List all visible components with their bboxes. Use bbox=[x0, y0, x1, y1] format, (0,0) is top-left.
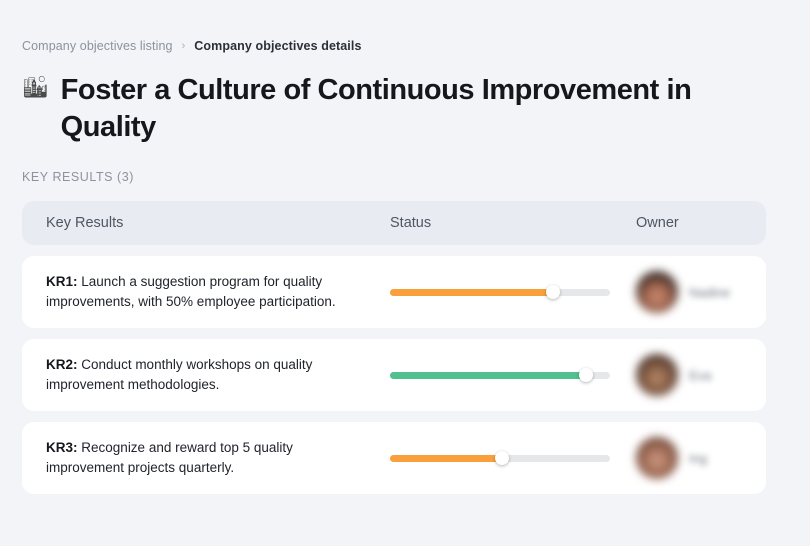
key-result-cell: KR2: Conduct monthly workshops on qualit… bbox=[22, 355, 390, 396]
page-title: Foster a Culture of Continuous Improveme… bbox=[61, 72, 711, 145]
avatar bbox=[636, 354, 678, 396]
table-header-row: Key Results Status Owner bbox=[22, 201, 766, 245]
owner-cell: Nadine bbox=[636, 271, 766, 313]
breadcrumb: Company objectives listing › Company obj… bbox=[22, 0, 788, 53]
key-result-text: KR2: Conduct monthly workshops on qualit… bbox=[46, 355, 390, 396]
slider-thumb[interactable] bbox=[579, 368, 593, 382]
key-result-text: KR1: Launch a suggestion program for qua… bbox=[46, 272, 390, 313]
owner-cell: Ing bbox=[636, 437, 766, 479]
page-title-row: 🏙 Foster a Culture of Continuous Improve… bbox=[22, 72, 788, 145]
owner-name: Ing bbox=[689, 451, 707, 466]
key-result-text: KR3: Recognize and reward top 5 quality … bbox=[46, 438, 390, 479]
table-row[interactable]: KR2: Conduct monthly workshops on qualit… bbox=[22, 339, 766, 411]
key-result-description: Launch a suggestion program for quality … bbox=[46, 274, 336, 310]
key-result-label: KR2: bbox=[46, 357, 78, 372]
key-result-label: KR1: bbox=[46, 274, 78, 289]
objective-details-page: Company objectives listing › Company obj… bbox=[0, 0, 810, 546]
progress-slider[interactable] bbox=[390, 367, 610, 383]
slider-fill bbox=[390, 289, 553, 296]
table-row[interactable]: KR3: Recognize and reward top 5 quality … bbox=[22, 422, 766, 494]
key-result-cell: KR3: Recognize and reward top 5 quality … bbox=[22, 438, 390, 479]
owner[interactable]: Ing bbox=[636, 437, 766, 479]
owner-cell: Eva bbox=[636, 354, 766, 396]
status-cell bbox=[390, 367, 636, 383]
table-row[interactable]: KR1: Launch a suggestion program for qua… bbox=[22, 256, 766, 328]
key-result-description: Recognize and reward top 5 quality impro… bbox=[46, 440, 293, 476]
column-header-owner: Owner bbox=[636, 215, 766, 231]
avatar bbox=[636, 271, 678, 313]
owner-name: Nadine bbox=[689, 285, 730, 300]
slider-thumb[interactable] bbox=[546, 285, 560, 299]
column-header-status: Status bbox=[390, 215, 636, 231]
owner[interactable]: Eva bbox=[636, 354, 766, 396]
breadcrumb-current: Company objectives details bbox=[194, 39, 361, 53]
key-result-cell: KR1: Launch a suggestion program for qua… bbox=[22, 272, 390, 313]
slider-fill bbox=[390, 455, 502, 462]
key-results-section-label: KEY RESULTS (3) bbox=[22, 170, 788, 184]
owner[interactable]: Nadine bbox=[636, 271, 766, 313]
progress-slider[interactable] bbox=[390, 284, 610, 300]
city-buildings-icon: 🏙 bbox=[22, 72, 49, 100]
status-cell bbox=[390, 450, 636, 466]
slider-thumb[interactable] bbox=[495, 451, 509, 465]
status-cell bbox=[390, 284, 636, 300]
owner-name: Eva bbox=[689, 368, 711, 383]
avatar bbox=[636, 437, 678, 479]
slider-fill bbox=[390, 372, 586, 379]
breadcrumb-link-listing[interactable]: Company objectives listing bbox=[22, 39, 173, 53]
chevron-right-icon: › bbox=[182, 41, 186, 52]
progress-slider[interactable] bbox=[390, 450, 610, 466]
key-results-table: Key Results Status Owner KR1: Launch a s… bbox=[22, 201, 788, 494]
column-header-key-results: Key Results bbox=[22, 215, 390, 231]
key-result-label: KR3: bbox=[46, 440, 78, 455]
key-result-description: Conduct monthly workshops on quality imp… bbox=[46, 357, 312, 393]
